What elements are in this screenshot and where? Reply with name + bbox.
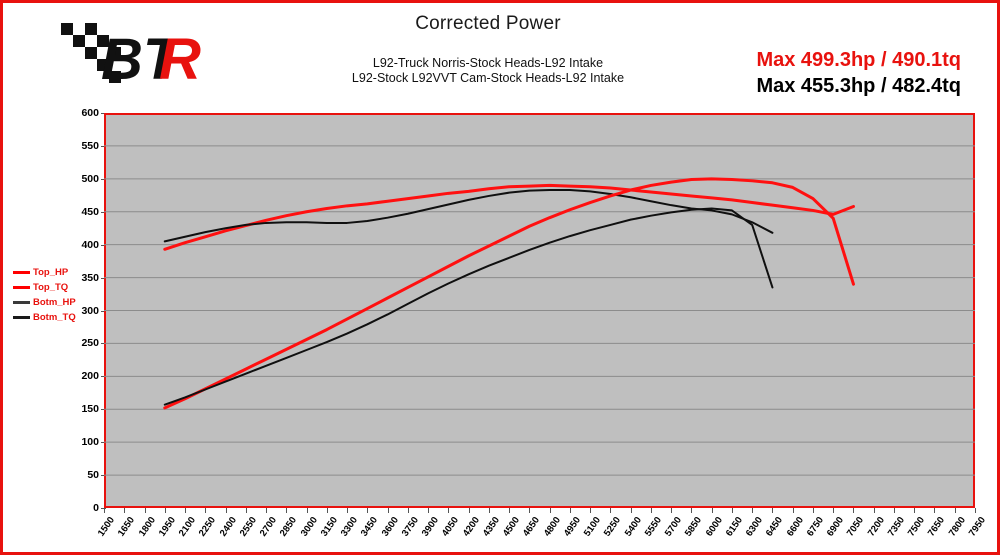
- max-top-readout: Max 499.3hp / 490.1tq: [756, 47, 961, 73]
- btr-logo-graphic: BT R: [55, 17, 235, 95]
- x-tick-label: 5850: [683, 515, 704, 539]
- y-tick-label: 50: [61, 469, 99, 481]
- x-tick-label: 3450: [359, 515, 380, 539]
- x-tick-mark: [772, 508, 773, 513]
- x-tick-mark: [205, 508, 206, 513]
- x-tick-mark: [489, 508, 490, 513]
- y-tick-label: 100: [61, 436, 99, 448]
- x-tick-mark: [853, 508, 854, 513]
- x-tick-label: 5400: [623, 515, 644, 539]
- x-tick-label: 1950: [157, 515, 178, 539]
- btr-logo: BT R: [55, 17, 235, 95]
- x-tick-label: 3750: [400, 515, 421, 539]
- x-tick-label: 4800: [541, 515, 562, 539]
- x-tick-label: 1650: [116, 515, 137, 539]
- y-tick-label: 350: [61, 272, 99, 284]
- x-tick-label: 4650: [521, 515, 542, 539]
- x-tick-label: 1800: [136, 515, 157, 539]
- x-tick-label: 4500: [501, 515, 522, 539]
- x-tick-mark: [509, 508, 510, 513]
- x-tick-mark: [914, 508, 915, 513]
- x-tick-label: 7800: [947, 515, 968, 539]
- x-axis: 1500165018001950210022502400255027002850…: [104, 508, 975, 555]
- x-tick-mark: [448, 508, 449, 513]
- x-tick-label: 6150: [724, 515, 745, 539]
- x-tick-mark: [327, 508, 328, 513]
- x-tick-label: 3300: [339, 515, 360, 539]
- x-tick-mark: [469, 508, 470, 513]
- y-tick-label: 600: [61, 107, 99, 119]
- x-tick-mark: [246, 508, 247, 513]
- x-tick-label: 4350: [481, 515, 502, 539]
- legend-line-swatch: [13, 316, 30, 319]
- legend-line-swatch: [13, 301, 30, 304]
- x-tick-label: 6900: [825, 515, 846, 539]
- subtitle-line-1: L92-Truck Norris-Stock Heads-L92 Intake: [243, 56, 733, 71]
- y-tick-label: 450: [61, 206, 99, 218]
- subtitle-line-2: L92-Stock L92VVT Cam-Stock Heads-L92 Int…: [243, 71, 733, 86]
- chart-subtitle: L92-Truck Norris-Stock Heads-L92 Intake …: [243, 56, 733, 86]
- x-tick-mark: [813, 508, 814, 513]
- plot-wrapper: [104, 113, 975, 508]
- x-tick-mark: [732, 508, 733, 513]
- x-tick-mark: [874, 508, 875, 513]
- x-tick-mark: [185, 508, 186, 513]
- x-tick-label: 3150: [319, 515, 340, 539]
- x-tick-label: 2400: [217, 515, 238, 539]
- x-tick-mark: [124, 508, 125, 513]
- x-tick-mark: [165, 508, 166, 513]
- x-tick-mark: [610, 508, 611, 513]
- x-tick-mark: [793, 508, 794, 513]
- x-tick-mark: [550, 508, 551, 513]
- x-tick-label: 6300: [744, 515, 765, 539]
- y-tick-label: 400: [61, 239, 99, 251]
- x-tick-label: 3600: [379, 515, 400, 539]
- x-tick-label: 2250: [197, 515, 218, 539]
- x-tick-mark: [671, 508, 672, 513]
- x-tick-label: 5700: [663, 515, 684, 539]
- y-tick-label: 300: [61, 305, 99, 317]
- legend-line-swatch: [13, 286, 30, 289]
- max-botm-readout: Max 455.3hp / 482.4tq: [756, 73, 961, 99]
- x-tick-mark: [712, 508, 713, 513]
- x-tick-mark: [529, 508, 530, 513]
- chart-title: Corrected Power: [253, 13, 723, 35]
- x-tick-mark: [286, 508, 287, 513]
- y-tick-label: 550: [61, 140, 99, 152]
- dyno-chart-page: BT R Corrected Power L92-Truck Norris-St…: [0, 0, 1000, 555]
- x-tick-label: 7950: [967, 515, 988, 539]
- series-line-botm_tq: [165, 190, 773, 241]
- x-tick-mark: [752, 508, 753, 513]
- x-tick-mark: [894, 508, 895, 513]
- x-tick-label: 7200: [866, 515, 887, 539]
- x-tick-label: 4200: [460, 515, 481, 539]
- x-tick-mark: [934, 508, 935, 513]
- y-tick-label: 250: [61, 337, 99, 349]
- x-tick-mark: [226, 508, 227, 513]
- x-tick-label: 6600: [785, 515, 806, 539]
- x-tick-label: 4950: [562, 515, 583, 539]
- x-tick-mark: [833, 508, 834, 513]
- max-readout-block: Max 499.3hp / 490.1tq Max 455.3hp / 482.…: [756, 47, 961, 99]
- x-tick-label: 7050: [845, 515, 866, 539]
- x-tick-mark: [691, 508, 692, 513]
- x-tick-label: 5100: [582, 515, 603, 539]
- x-tick-label: 2850: [278, 515, 299, 539]
- logo-letter-r: R: [159, 27, 201, 92]
- legend-line-swatch: [13, 271, 30, 274]
- x-tick-label: 4050: [440, 515, 461, 539]
- y-tick-label: 500: [61, 173, 99, 185]
- x-tick-mark: [570, 508, 571, 513]
- x-tick-mark: [347, 508, 348, 513]
- y-axis: 050100150200250300350400450500550600: [61, 106, 99, 515]
- series-line-botm_hp: [165, 208, 773, 404]
- series-line-top_tq: [165, 185, 854, 249]
- x-tick-label: 6450: [764, 515, 785, 539]
- x-tick-mark: [104, 508, 105, 513]
- x-tick-mark: [651, 508, 652, 513]
- y-tick-label: 200: [61, 370, 99, 382]
- x-tick-mark: [428, 508, 429, 513]
- x-tick-mark: [975, 508, 976, 513]
- x-tick-label: 1500: [96, 515, 117, 539]
- x-tick-mark: [408, 508, 409, 513]
- x-tick-label: 7500: [906, 515, 927, 539]
- x-tick-label: 2550: [238, 515, 259, 539]
- x-tick-label: 7350: [886, 515, 907, 539]
- x-tick-mark: [388, 508, 389, 513]
- x-tick-label: 6750: [805, 515, 826, 539]
- plot-svg: [104, 113, 975, 508]
- x-tick-label: 2700: [258, 515, 279, 539]
- x-tick-label: 2100: [177, 515, 198, 539]
- x-tick-mark: [955, 508, 956, 513]
- x-tick-label: 3900: [420, 515, 441, 539]
- x-tick-mark: [145, 508, 146, 513]
- x-tick-mark: [367, 508, 368, 513]
- x-tick-mark: [631, 508, 632, 513]
- x-tick-label: 5250: [602, 515, 623, 539]
- x-tick-mark: [590, 508, 591, 513]
- x-tick-mark: [307, 508, 308, 513]
- x-tick-label: 6000: [704, 515, 725, 539]
- x-tick-label: 7650: [926, 515, 947, 539]
- y-tick-label: 150: [61, 403, 99, 415]
- series-line-top_hp: [165, 179, 854, 408]
- x-tick-label: 5550: [643, 515, 664, 539]
- y-tick-label: 0: [61, 502, 99, 514]
- x-tick-label: 3000: [298, 515, 319, 539]
- x-tick-mark: [266, 508, 267, 513]
